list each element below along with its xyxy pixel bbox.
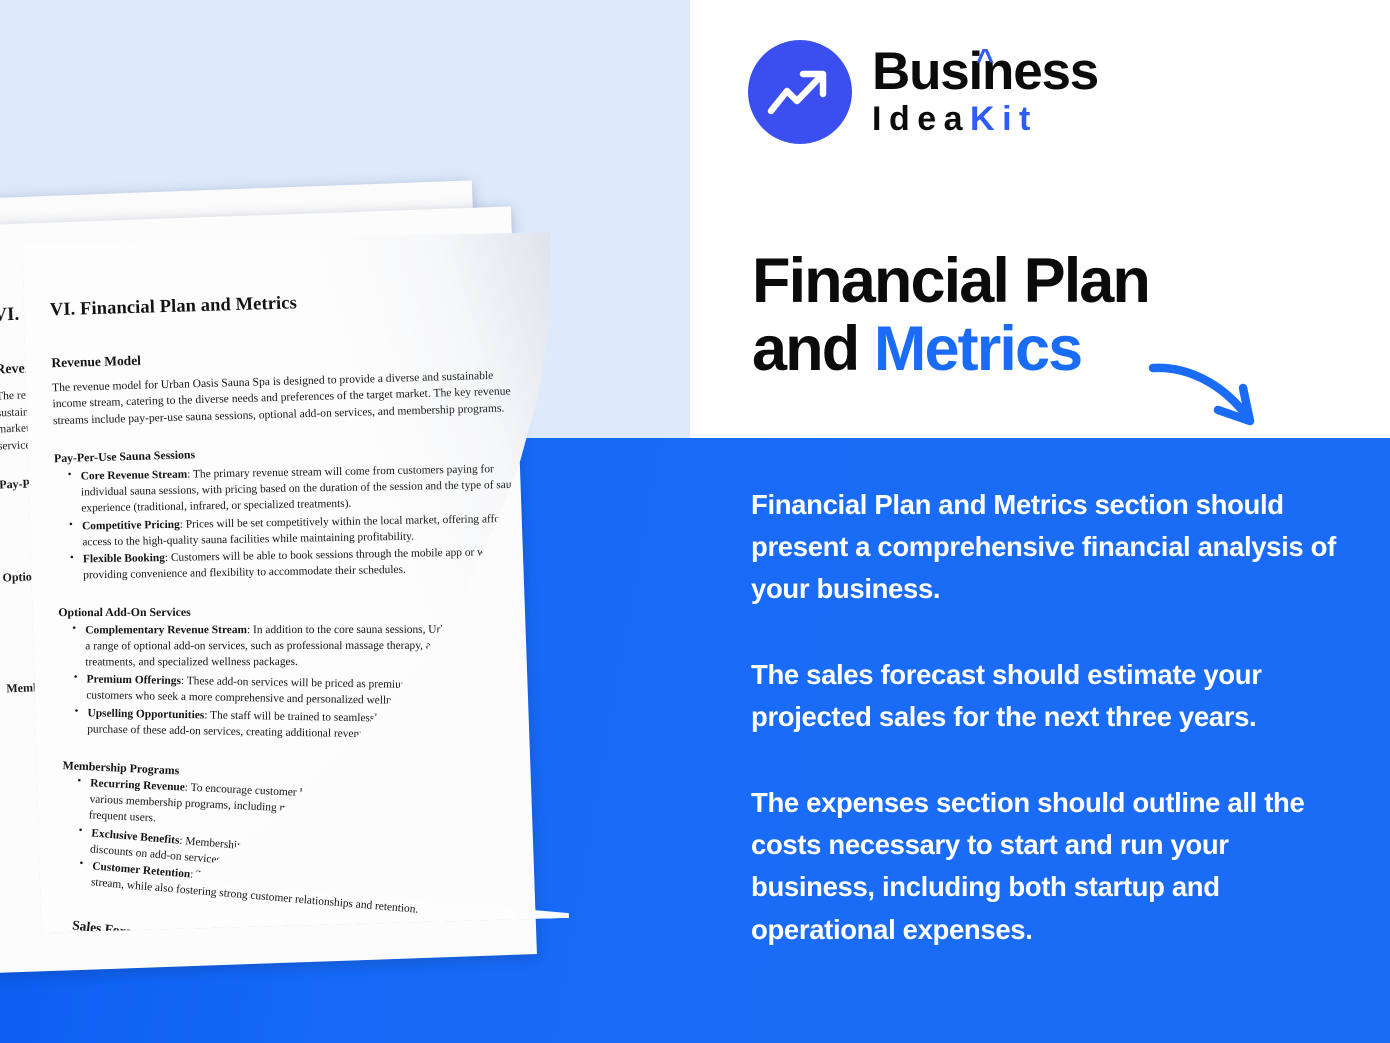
bullet-label: Recurring Revenue	[90, 777, 185, 793]
description-paragraph-2: The sales forecast should estimate your …	[751, 654, 1351, 738]
bullet-label: Premium Offerings	[86, 674, 181, 688]
list-item: Upselling Opportunities: The staff will …	[87, 705, 539, 745]
description-paragraph-1: Financial Plan and Metrics section shoul…	[751, 484, 1351, 610]
document-page-front-wrapper: VI. Financial Plan and Metrics Revenue M…	[0, 0, 760, 1043]
description-text-block: Financial Plan and Metrics section shoul…	[751, 484, 1351, 951]
document-page-front: VI. Financial Plan and Metrics Revenue M…	[22, 228, 569, 932]
logo-line-business: Business ^	[872, 45, 1098, 99]
list-item: Complementary Revenue Stream: In additio…	[85, 621, 537, 670]
caret-accent-icon: ^	[976, 44, 993, 76]
bullet-label: Core Revenue Stream	[81, 469, 188, 483]
bullet-label: Flexible Booking	[83, 552, 165, 565]
description-paragraph-3: The expenses section should outline all …	[751, 782, 1351, 950]
trend-up-arrow-icon	[748, 40, 852, 144]
logo-wordmark: Business ^ IdeaKit	[872, 45, 1098, 138]
sales-forecast-heading: Sales Forecast	[71, 918, 569, 993]
document-title: VI. Financial Plan and Metrics	[50, 287, 528, 321]
sales-forecast-paragraph: The sales forecast for Urban Oasis Sauna…	[63, 941, 567, 1043]
revenue-model-heading: Revenue Model	[51, 342, 529, 371]
list-item: Flexible Booking: Customers will be able…	[83, 544, 535, 584]
logo-kit-text: Kit	[970, 100, 1038, 138]
list-item: Core Revenue Stream: The primary revenue…	[81, 461, 534, 517]
list-item: Customer Retention: The membership progr…	[90, 858, 543, 928]
optional-addons-heading: Optional Add-On Services	[58, 604, 536, 620]
logo-idea-text: Idea	[872, 100, 970, 138]
bullet-label: Upselling Opportunities	[87, 707, 204, 721]
pay-per-use-bullets: Core Revenue Stream: The primary revenue…	[54, 456, 535, 585]
document-stack: VI. Financial Plan and Metrics Revenue M…	[0, 0, 760, 1043]
optional-addons-bullets: Complementary Revenue Stream: In additio…	[59, 609, 540, 738]
brand-logo[interactable]: Business ^ IdeaKit	[748, 40, 1098, 144]
page-title-and: and	[752, 314, 874, 384]
curved-down-right-arrow-icon	[1148, 358, 1278, 438]
page-title-line-1: Financial Plan	[752, 247, 1312, 315]
bullet-label: Complementary Revenue Stream	[85, 624, 247, 636]
revenue-model-paragraph: The revenue model for Urban Oasis Sauna …	[52, 367, 531, 430]
slide-canvas: VI. Financial Plan and Metrics Revenue M…	[0, 0, 1390, 1043]
logo-line-idea-kit: IdeaKit	[872, 101, 1098, 138]
page-title-metrics: Metrics	[874, 314, 1081, 384]
bullet-label: Competitive Pricing	[82, 519, 180, 533]
sales-forecast-block: Sales Forecast The sales forecast for Ur…	[63, 918, 570, 1043]
bullet-label: Exclusive Benefits	[91, 827, 180, 846]
document-content: VI. Financial Plan and Metrics Revenue M…	[50, 287, 548, 1027]
